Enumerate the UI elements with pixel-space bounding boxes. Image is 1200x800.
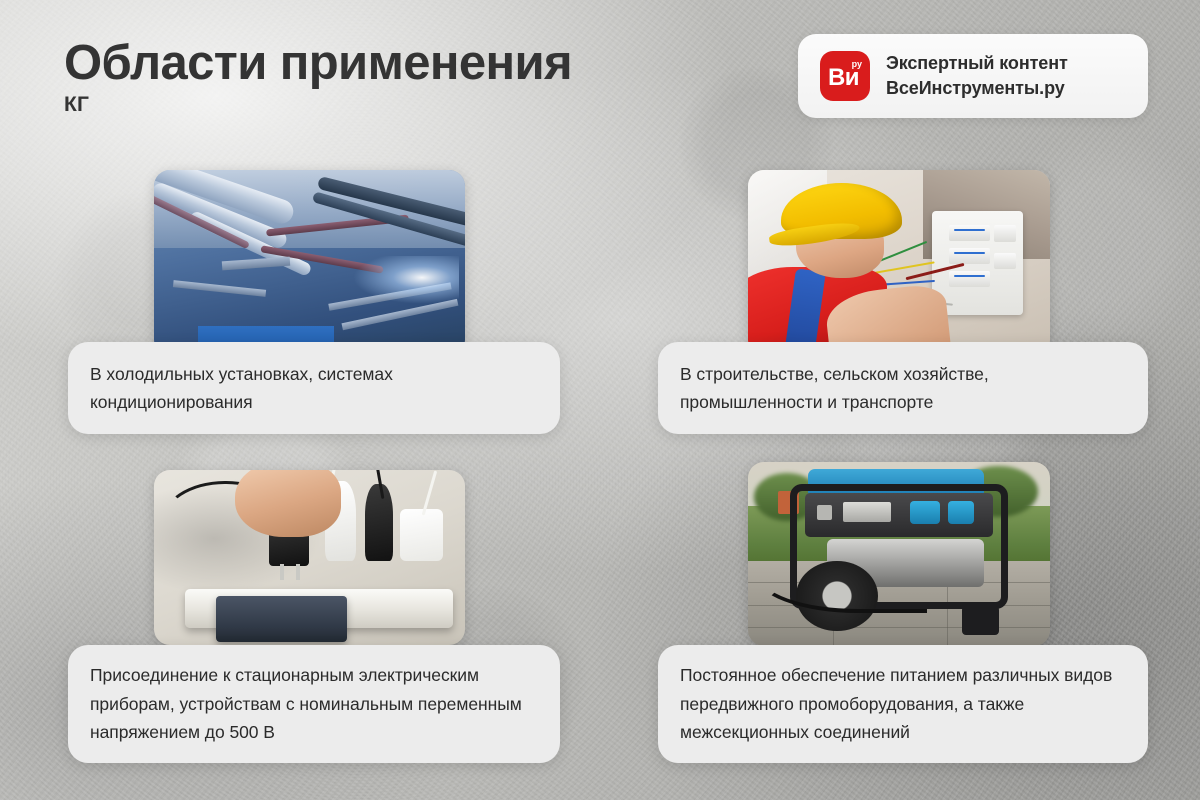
brand-badge-text: Экспертный контент ВсеИнструменты.ру bbox=[886, 53, 1068, 98]
photo-scene-power-strip bbox=[154, 470, 465, 645]
photo-scene-generator bbox=[748, 462, 1050, 646]
page-header: Области применения КГ bbox=[64, 38, 572, 117]
caption-text-appliances: Присоединение к стационарным электрическ… bbox=[68, 661, 560, 746]
switch-toggle bbox=[817, 505, 832, 520]
generator-control-panel bbox=[805, 493, 992, 537]
voltmeter-display bbox=[843, 502, 892, 522]
vseinstrumenty-logo-icon: Ви ру bbox=[820, 51, 870, 101]
photo-portable-generator bbox=[748, 462, 1050, 646]
human-hand bbox=[235, 470, 341, 537]
rcd-module-2 bbox=[994, 253, 1016, 270]
logo-letters: Ви bbox=[828, 66, 859, 90]
power-socket-2 bbox=[948, 501, 974, 524]
caption-card-generator: Постоянное обеспечение питанием различны… bbox=[658, 645, 1148, 763]
caption-text-cooling: В холодильных установках, системах конди… bbox=[68, 360, 560, 417]
support-rail-2 bbox=[173, 280, 267, 297]
photo-electrician-panel bbox=[748, 170, 1050, 356]
brand-badge[interactable]: Ви ру Экспертный контент ВсеИнструменты.… bbox=[798, 34, 1148, 118]
lamp-glare bbox=[353, 256, 459, 304]
power-socket-1 bbox=[910, 501, 940, 524]
electrical-distribution-panel bbox=[932, 211, 1023, 315]
brand-badge-line-1: Экспертный контент bbox=[886, 53, 1068, 74]
caption-text-generator: Постоянное обеспечение питанием различны… bbox=[658, 661, 1148, 746]
support-rail-1 bbox=[222, 257, 291, 271]
page-subtitle: КГ bbox=[64, 93, 572, 117]
white-usb-adapter bbox=[400, 509, 444, 562]
circuit-breaker-1 bbox=[949, 225, 991, 241]
logo-superscript: ру bbox=[852, 60, 862, 69]
photo-scene-electrician bbox=[748, 170, 1050, 356]
caption-card-cooling: В холодильных установках, системах конди… bbox=[68, 342, 560, 434]
black-plug-inserted bbox=[365, 484, 393, 561]
photo-scene-hvac bbox=[154, 170, 465, 356]
circuit-breaker-3 bbox=[949, 271, 991, 287]
generator-support-foot bbox=[962, 606, 998, 635]
paving-line-3 bbox=[748, 627, 1050, 628]
caption-card-appliances: Присоединение к стационарным электрическ… bbox=[68, 645, 560, 763]
caption-text-construction: В строительстве, сельском хозяйстве, про… bbox=[658, 360, 1148, 417]
rcd-module-1 bbox=[994, 225, 1016, 242]
dark-power-adapter bbox=[216, 596, 347, 642]
circuit-breaker-2 bbox=[949, 248, 991, 264]
photo-industrial-ceiling-pipes bbox=[154, 170, 465, 356]
brand-badge-line-2: ВсеИнструменты.ру bbox=[886, 78, 1068, 99]
photo-power-strip-plug bbox=[154, 470, 465, 645]
page-title: Области применения bbox=[64, 38, 572, 89]
caption-card-construction: В строительстве, сельском хозяйстве, про… bbox=[658, 342, 1148, 434]
